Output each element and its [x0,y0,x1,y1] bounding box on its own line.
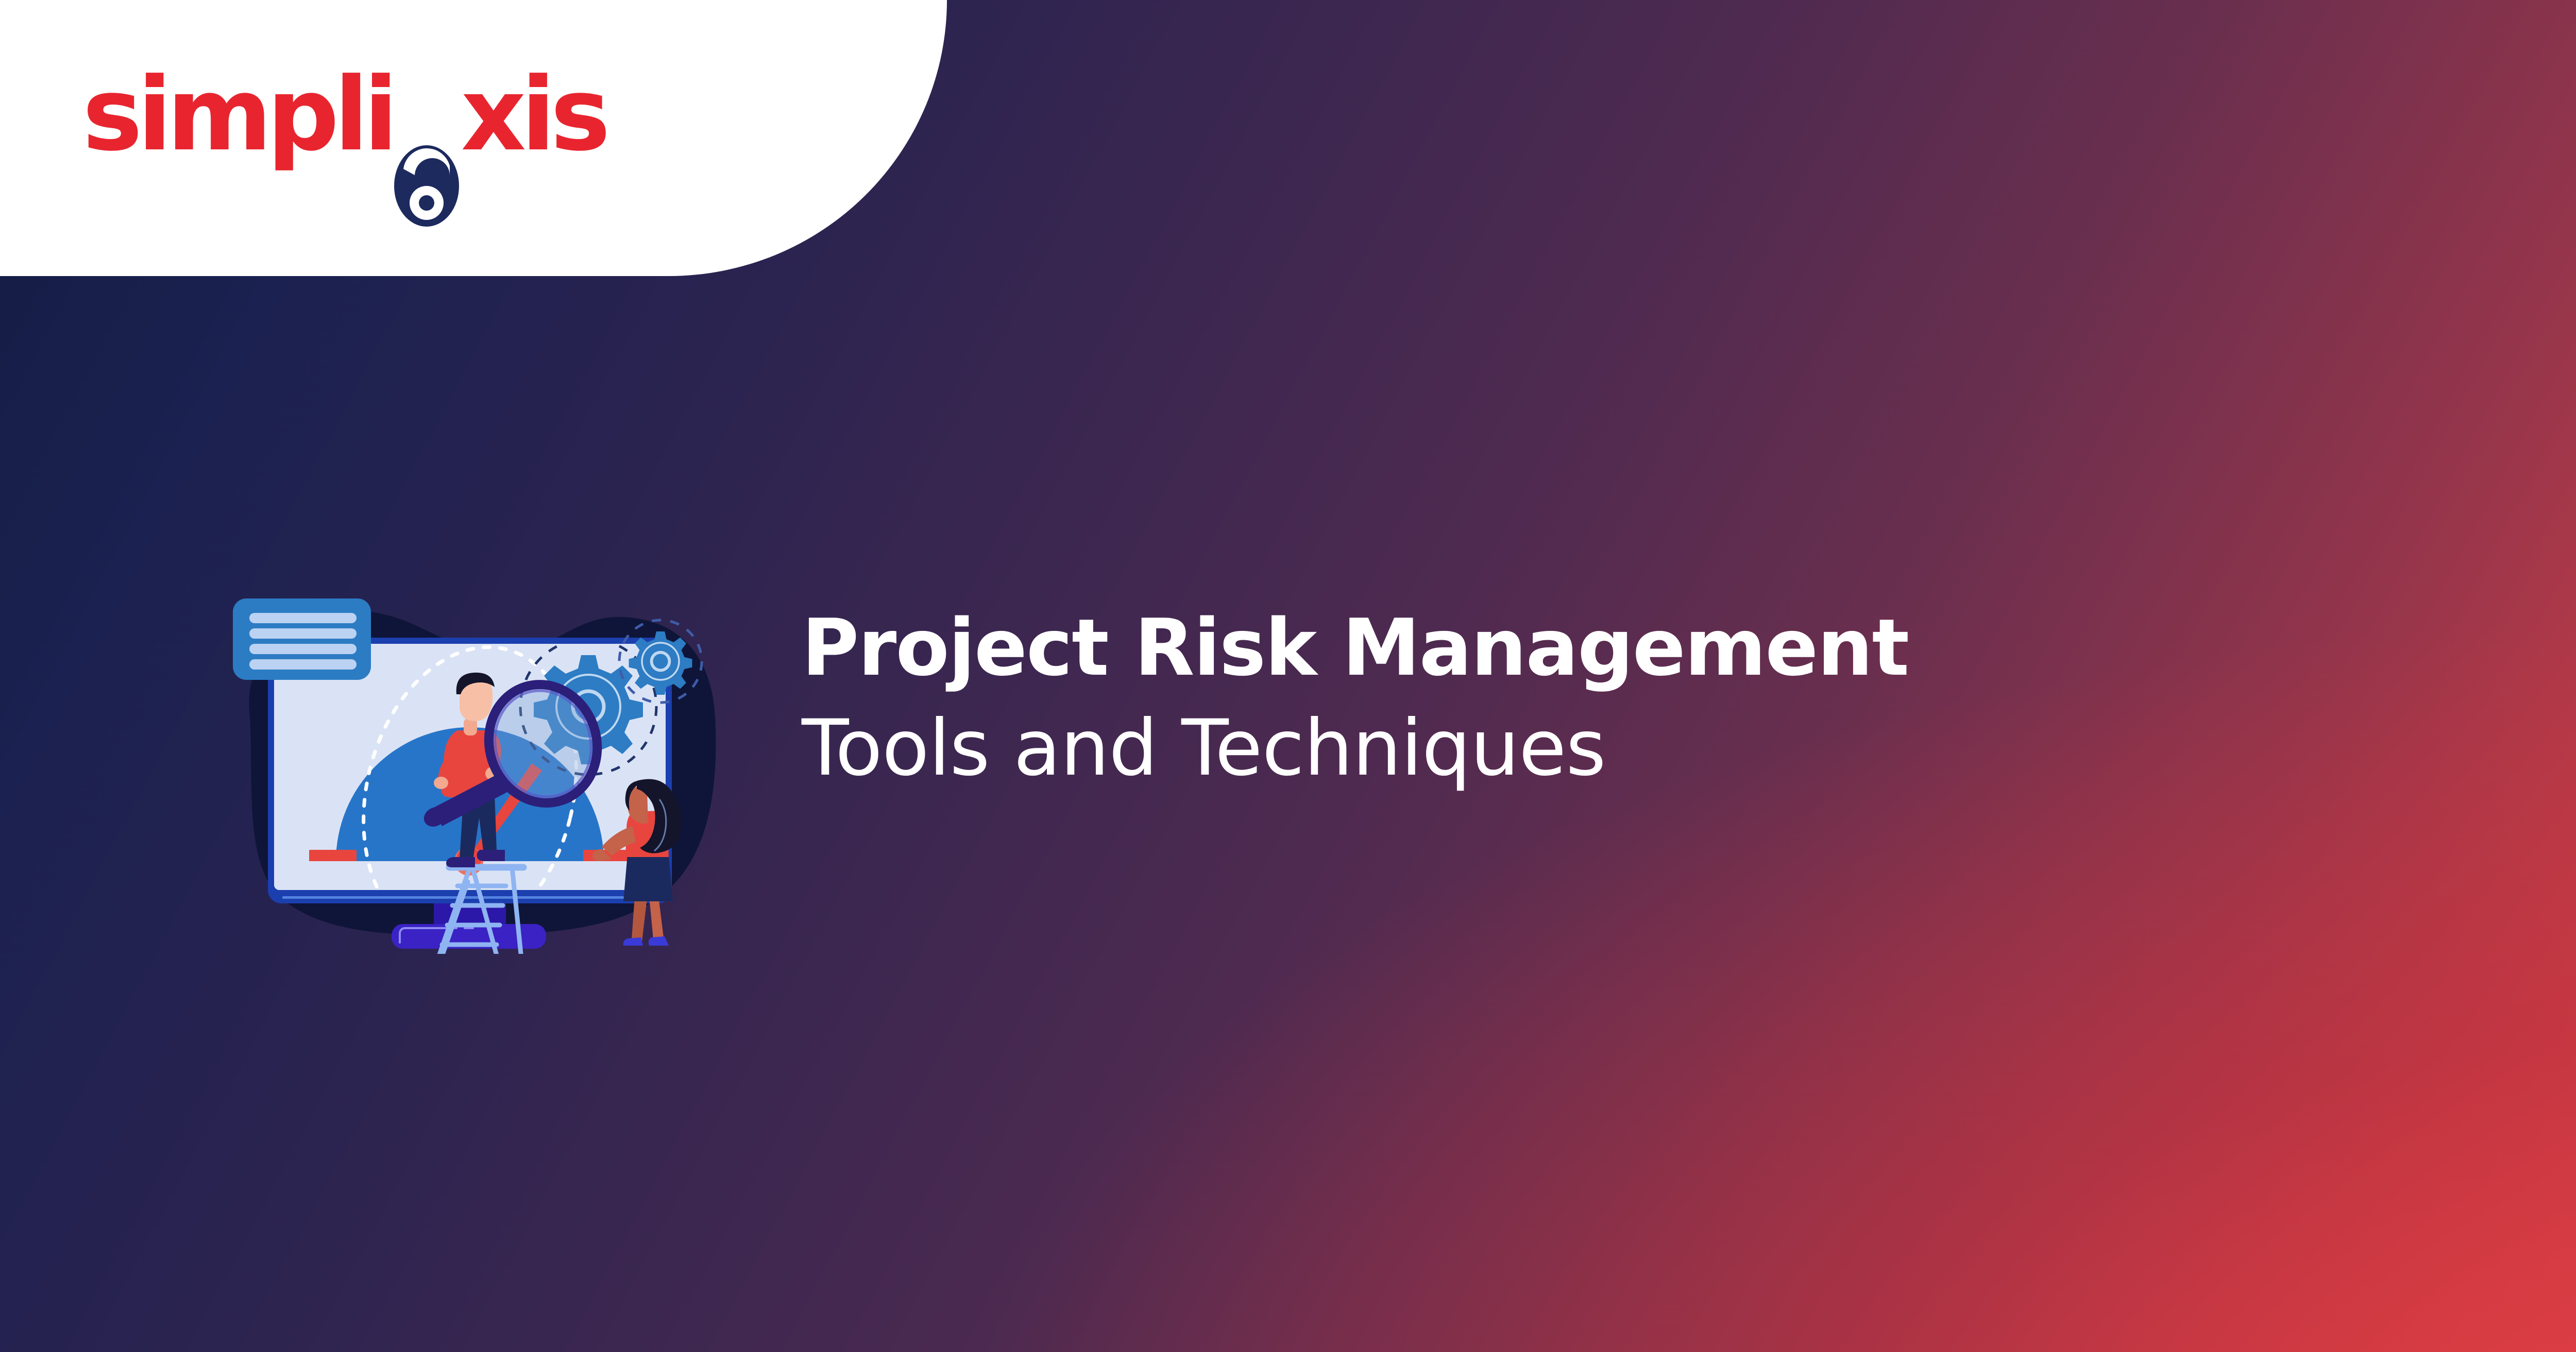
checklist-line [249,644,357,654]
logo-panel: simpli xis [0,0,947,276]
logo-text-after: xis [461,64,605,165]
risk-gauge-illustration [181,552,758,954]
brand-logo[interactable]: simpli xis [82,61,605,169]
logo-text-before: simpli [82,64,393,165]
gear-small-icon [629,631,692,695]
checklist-line [249,628,357,639]
headline-block: Project Risk Management Tools and Techni… [802,609,2347,787]
headline-primary: Project Risk Management [802,609,2347,687]
checklist-card [233,598,371,680]
logo-target-a-icon [394,145,459,227]
checklist-line [249,613,357,623]
illustration-svg [181,552,758,954]
checklist-line [249,659,357,670]
monitor-bezel-line [282,896,657,899]
logo-wordmark: simpli xis [82,64,605,165]
banner-canvas: simpli xis [0,0,2576,1352]
monitor-base-dash [464,927,474,929]
headline-secondary: Tools and Techniques [802,710,2347,787]
logo-a-mark-slot [393,149,461,149]
